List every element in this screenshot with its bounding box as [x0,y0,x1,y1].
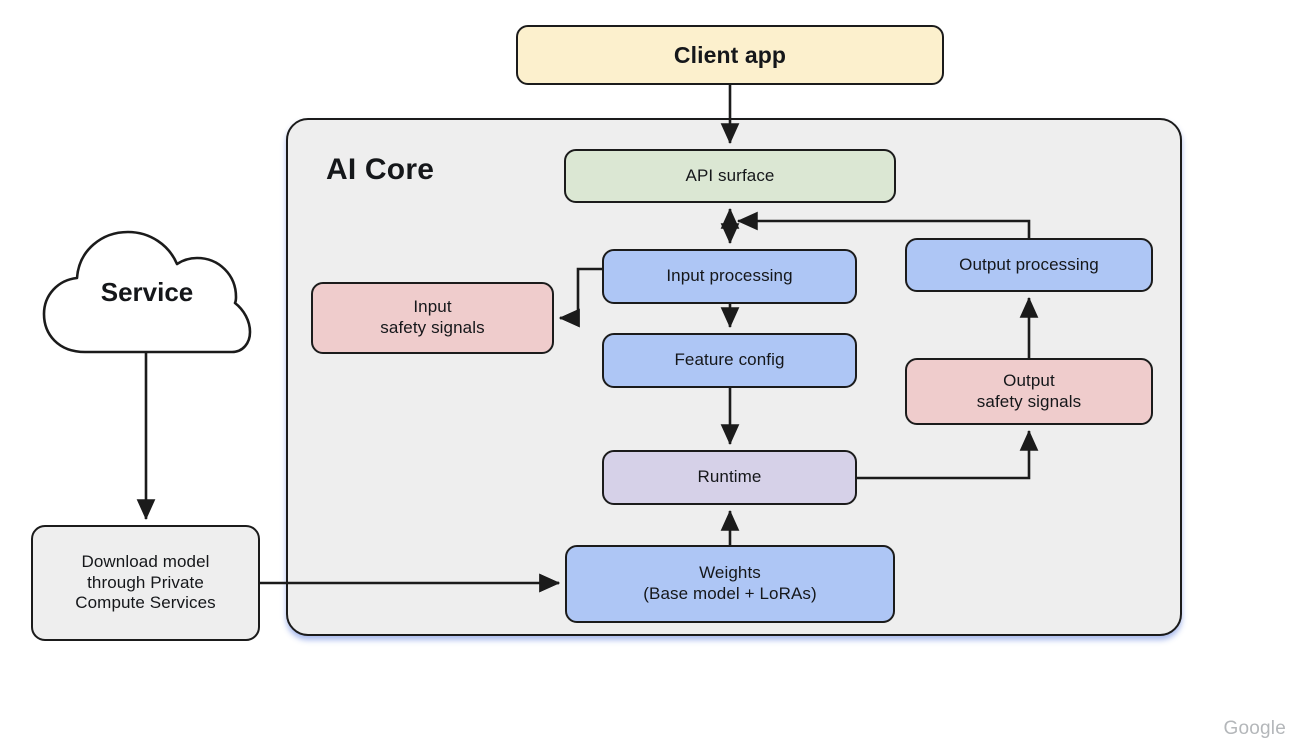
edge-runtime-to-output-safety [857,431,1029,478]
node-input-safety-signals[interactable]: Input safety signals [311,282,554,354]
diagram-canvas: AI Core [0,0,1304,756]
node-output-processing[interactable]: Output processing [905,238,1153,292]
edge-output-processing-to-api-surface [738,221,1029,238]
edge-input-processing-to-input-safety [560,269,602,318]
node-api-surface[interactable]: API surface [564,149,896,203]
node-feature-config[interactable]: Feature config [602,333,857,388]
node-output-safety-signals[interactable]: Output safety signals [905,358,1153,425]
service-cloud-shape [38,228,256,356]
node-input-processing[interactable]: Input processing [602,249,857,304]
node-client-app[interactable]: Client app [516,25,944,85]
node-runtime[interactable]: Runtime [602,450,857,505]
node-weights[interactable]: Weights (Base model + LoRAs) [565,545,895,623]
google-watermark: Google [1224,718,1286,740]
ai-core-title: AI Core [326,153,434,187]
node-download-model[interactable]: Download model through Private Compute S… [31,525,260,641]
